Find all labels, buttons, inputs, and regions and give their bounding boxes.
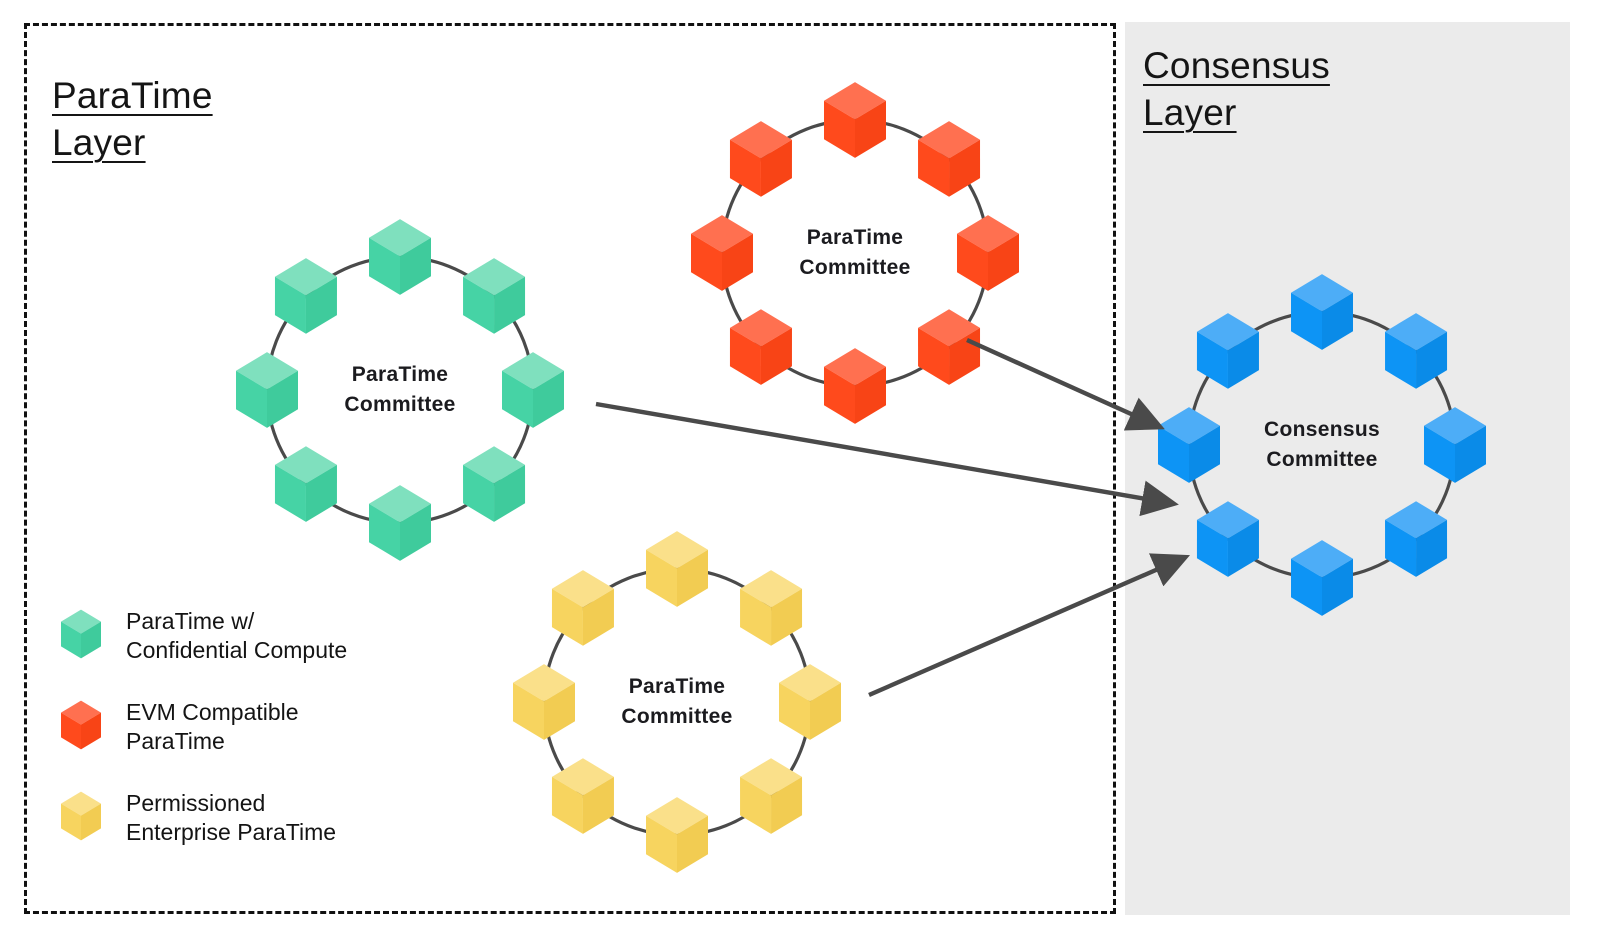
legend: ParaTime w/ Confidential ComputeEVM Comp… [58, 605, 478, 878]
legend-label: Permissioned Enterprise ParaTime [126, 787, 336, 848]
legend-item-red: EVM Compatible ParaTime [58, 696, 478, 757]
legend-swatch-green-icon [58, 609, 104, 659]
diagram-canvas: ParaTimeLayer ConsensusLayer ParaTime Co… [0, 0, 1600, 940]
legend-item-green: ParaTime w/ Confidential Compute [58, 605, 478, 666]
legend-cube-icon [61, 700, 101, 749]
legend-label: ParaTime w/ Confidential Compute [126, 605, 347, 666]
legend-swatch-yellow-icon [58, 791, 104, 841]
legend-cube-icon [61, 791, 101, 840]
legend-item-yellow: Permissioned Enterprise ParaTime [58, 787, 478, 848]
legend-cube-icon [61, 610, 101, 659]
consensus-layer-title: ConsensusLayer [1143, 42, 1330, 137]
legend-swatch-red-icon [58, 700, 104, 750]
title-line: Layer [1143, 89, 1330, 136]
title-line: ParaTime [52, 72, 213, 119]
legend-label: EVM Compatible ParaTime [126, 696, 299, 757]
title-line: Consensus [1143, 42, 1330, 89]
consensus-layer-panel [1125, 22, 1570, 915]
paratime-layer-title: ParaTimeLayer [52, 72, 213, 167]
title-line: Layer [52, 119, 213, 166]
